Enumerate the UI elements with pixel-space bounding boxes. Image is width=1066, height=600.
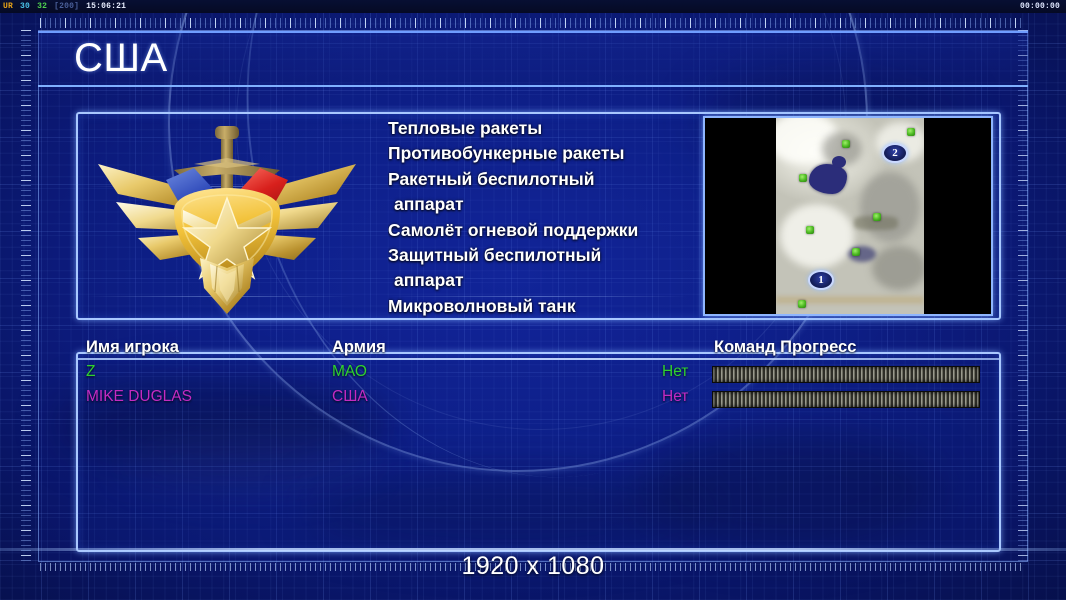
- tech-list-item: Самолёт огневой поддержки: [388, 218, 693, 243]
- tech-list-item: Микроволновый танк: [388, 294, 693, 318]
- status-seg-fps: 30: [19, 2, 31, 11]
- faction-tech-list: Тепловые ракетыПротивобункерные ракетыРа…: [388, 112, 693, 318]
- table-row[interactable]: ZМАОНет: [84, 363, 994, 388]
- map-lake-small: [832, 156, 846, 168]
- map-supply-icon: [852, 248, 860, 256]
- status-seg-bracket: [200]: [53, 2, 80, 11]
- game-lobby-screen: UR 30 32 [200] 15:06:21 00:00:00 США: [0, 0, 1066, 600]
- page-title: США: [74, 36, 168, 81]
- resolution-label: 1920 x 1080: [461, 552, 604, 580]
- map-spawn-marker[interactable]: 2: [882, 143, 908, 163]
- map-preview: 12: [703, 116, 993, 316]
- cell-name: Z: [86, 363, 95, 381]
- map-terrain: 12: [776, 118, 924, 314]
- cell-army: МАО: [332, 363, 367, 381]
- tech-list-item: аппарат: [388, 268, 693, 293]
- column-header-progress: Команд Прогресс: [714, 338, 856, 357]
- map-supply-icon: [842, 140, 850, 148]
- progress-bar: [712, 391, 980, 408]
- tech-list-item: Защитный беспилотный: [388, 243, 693, 268]
- ruler-ticks-left: [21, 30, 31, 562]
- terrain-blob-5: [872, 246, 924, 290]
- status-bar: UR 30 32 [200] 15:06:21 00:00:00: [0, 0, 1066, 13]
- table-row[interactable]: MIKE DUGLASСШАНет: [84, 388, 994, 413]
- players-table-body: ZМАОНетMIKE DUGLASСШАНет: [84, 363, 994, 413]
- map-supply-icon: [799, 174, 807, 182]
- terrain-blob-3: [780, 204, 854, 268]
- cell-army: США: [332, 388, 368, 406]
- usa-eagle-emblem: [82, 118, 372, 314]
- status-bar-timer: 00:00:00: [1020, 0, 1060, 13]
- status-bar-left: UR 30 32 [200] 15:06:21: [2, 0, 127, 13]
- column-header-player-name: Имя игрока: [86, 338, 179, 357]
- tech-list-item: Тепловые ракеты: [388, 116, 693, 141]
- status-seg-ping: 32: [36, 2, 48, 11]
- players-table-header: Имя игрока Армия Команд Прогресс: [84, 338, 994, 360]
- progress-bar: [712, 366, 980, 383]
- cell-team_progress: Нет: [662, 363, 688, 381]
- map-supply-icon: [806, 226, 814, 234]
- map-lake: [809, 164, 847, 194]
- cell-name: MIKE DUGLAS: [86, 388, 192, 406]
- tech-list-item: Ракетный беспилотный: [388, 167, 693, 192]
- footer-rule: [0, 548, 1066, 551]
- ruler-ticks-top: [40, 18, 1024, 28]
- column-header-army: Армия: [332, 338, 386, 357]
- status-seg-ur: UR: [2, 2, 14, 11]
- map-supply-icon: [798, 300, 806, 308]
- resolution-bar: 1920 x 1080: [0, 552, 1066, 586]
- status-seg-clock: 15:06:21: [85, 2, 127, 11]
- map-supply-icon: [907, 128, 915, 136]
- map-supply-icon: [873, 213, 881, 221]
- map-spawn-marker[interactable]: 1: [808, 270, 834, 290]
- terrain-blob-2: [860, 172, 920, 242]
- title-band: США: [38, 31, 1028, 87]
- tech-list-item: Противобункерные ракеты: [388, 141, 693, 166]
- tech-list-item: аппарат: [388, 192, 693, 217]
- cell-team_progress: Нет: [662, 388, 688, 406]
